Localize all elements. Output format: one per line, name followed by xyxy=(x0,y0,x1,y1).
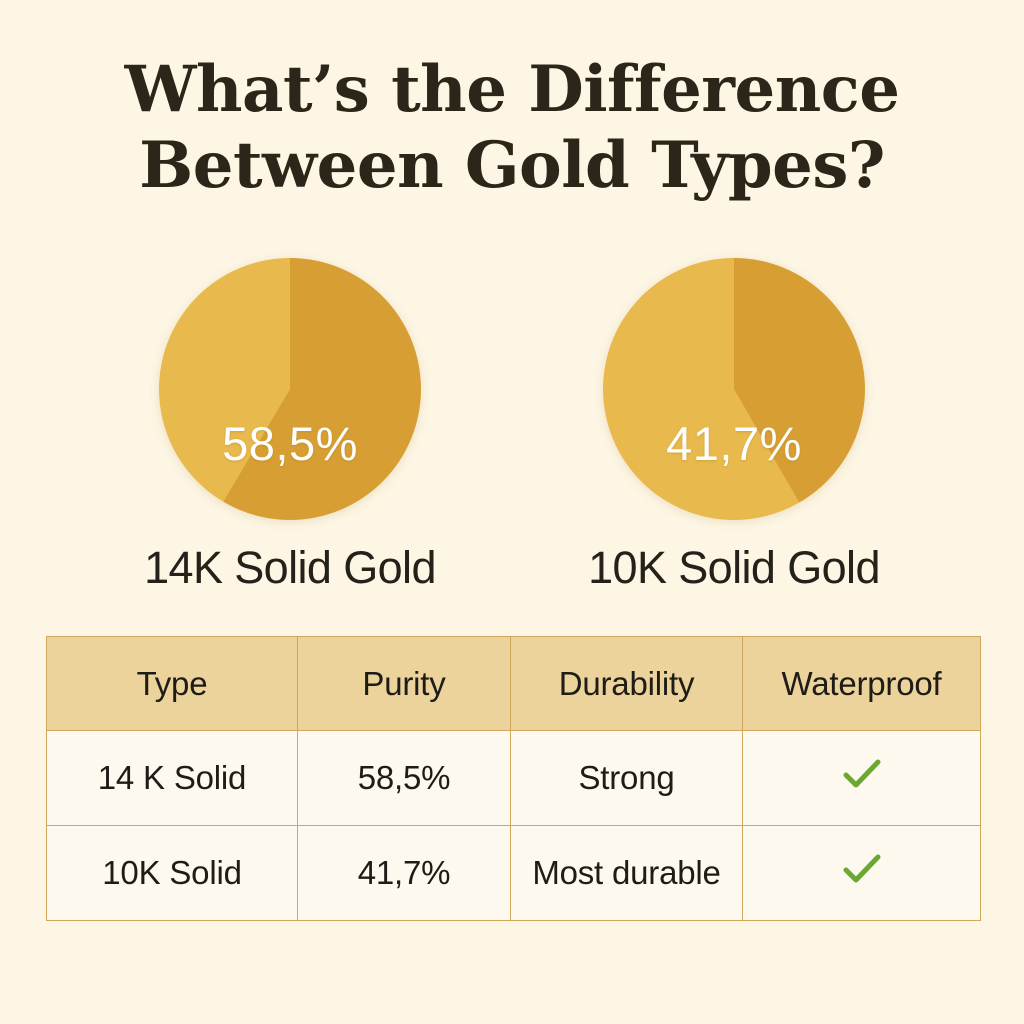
column-header-waterproof: Waterproof xyxy=(743,637,981,731)
cell-waterproof xyxy=(743,826,981,921)
cell-type: 10K Solid xyxy=(47,826,298,921)
infographic-canvas: What’s the Difference Between Gold Types… xyxy=(0,0,1024,1024)
cell-waterproof xyxy=(743,731,981,826)
pie-block-10k: 41,7% 10K Solid Gold xyxy=(524,258,944,594)
check-icon xyxy=(842,853,882,885)
pie-value-10k: 41,7% xyxy=(603,416,865,471)
pie-caption-10k: 10K Solid Gold xyxy=(524,542,944,594)
cell-purity: 41,7% xyxy=(298,826,511,921)
title-line-1: What’s the Difference xyxy=(0,52,1024,128)
cell-durability: Strong xyxy=(511,731,743,826)
table-row: 10K Solid 41,7% Most durable xyxy=(47,826,981,921)
comparison-table: Type Purity Durability Waterproof 14 K S… xyxy=(46,636,981,921)
cell-type: 14 K Solid xyxy=(47,731,298,826)
cell-purity: 58,5% xyxy=(298,731,511,826)
column-header-type: Type xyxy=(47,637,298,731)
column-header-purity: Purity xyxy=(298,637,511,731)
cell-durability: Most durable xyxy=(511,826,743,921)
pie-chart-14k: 58,5% xyxy=(159,258,421,520)
page-title: What’s the Difference Between Gold Types… xyxy=(0,52,1024,204)
pie-block-14k: 58,5% 14K Solid Gold xyxy=(80,258,500,594)
table-header-row: Type Purity Durability Waterproof xyxy=(47,637,981,731)
check-icon xyxy=(842,758,882,790)
pie-chart-10k: 41,7% xyxy=(603,258,865,520)
pie-value-14k: 58,5% xyxy=(159,416,421,471)
title-line-2: Between Gold Types? xyxy=(0,128,1024,204)
table-row: 14 K Solid 58,5% Strong xyxy=(47,731,981,826)
column-header-durability: Durability xyxy=(511,637,743,731)
pie-caption-14k: 14K Solid Gold xyxy=(80,542,500,594)
